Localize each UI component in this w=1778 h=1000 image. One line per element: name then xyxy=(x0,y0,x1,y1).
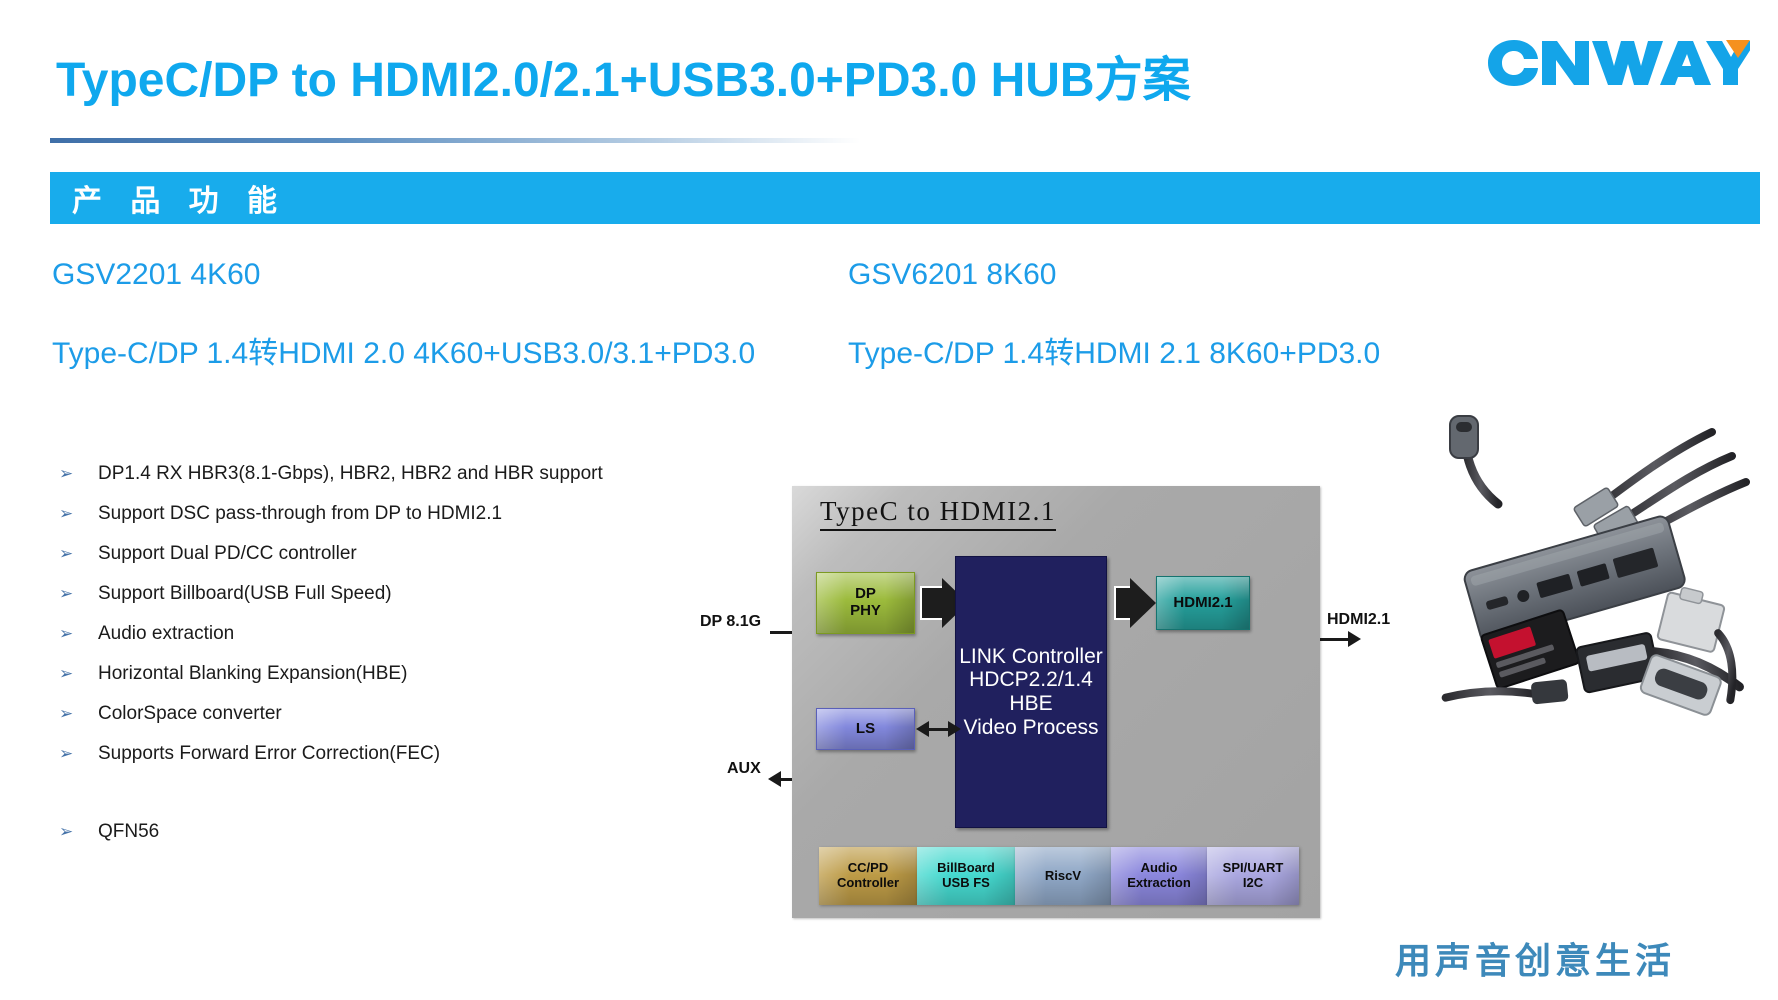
list-item: ➢ Audio extraction xyxy=(52,622,732,662)
list-gap xyxy=(52,782,732,820)
bullet-arrow-icon: ➢ xyxy=(52,702,98,726)
bullet-arrow-icon: ➢ xyxy=(52,582,98,606)
diagram-block-link-controller-label: LINK Controller HDCP2.2/1.4 HBE Video Pr… xyxy=(959,645,1103,739)
arrow-dpphy-to-link xyxy=(920,586,944,620)
block-diagram: TypeC to HDMI2.1 DP PHY LINK Controller … xyxy=(792,486,1320,918)
diagram-block-hdmi-label: HDMI2.1 xyxy=(1173,595,1232,612)
bullet-arrow-icon: ➢ xyxy=(52,622,98,646)
list-item-package: ➢ QFN56 xyxy=(52,820,732,860)
list-item: ➢ ColorSpace converter xyxy=(52,702,732,742)
product-right-name: GSV6201 8K60 xyxy=(848,258,1057,292)
list-item: ➢ Support Billboard(USB Full Speed) xyxy=(52,582,732,622)
arrow-head-ls-left xyxy=(916,721,929,737)
bullet-arrow-icon: ➢ xyxy=(52,542,98,566)
watermark-text: 用声音创意生活 xyxy=(1395,932,1675,984)
list-item: ➢ Support Dual PD/CC controller xyxy=(52,542,732,582)
diagram-block-hdmi: HDMI2.1 xyxy=(1156,576,1250,630)
bullet-arrow-icon: ➢ xyxy=(52,462,98,486)
bullet-arrow-icon: ➢ xyxy=(52,742,98,766)
list-item: ➢ Horizontal Blanking Expansion(HBE) xyxy=(52,662,732,702)
diagram-label-aux: AUX xyxy=(727,760,761,778)
diagram-block-ls-label: LS xyxy=(856,721,875,738)
arrow-link-to-hdmi xyxy=(1114,586,1132,620)
diagram-block-riscv: RiscV xyxy=(1015,847,1111,905)
list-item-label: DP1.4 RX HBR3(8.1-Gbps), HBR2, HBR2 and … xyxy=(98,462,603,486)
arrow-head-ls-right xyxy=(948,721,961,737)
list-item: ➢ DP1.4 RX HBR3(8.1-Gbps), HBR2, HBR2 an… xyxy=(52,462,732,502)
diagram-block-dp-phy: DP PHY xyxy=(816,572,915,634)
list-item-label: Support Billboard(USB Full Speed) xyxy=(98,582,392,606)
product-photo xyxy=(1420,412,1750,722)
list-item-label: Supports Forward Error Correction(FEC) xyxy=(98,742,440,766)
diagram-bottom-block-row: CC/PD Controller BillBoard USB FS RiscV … xyxy=(819,847,1299,905)
diagram-label-dp-input: DP 8.1G xyxy=(700,613,761,631)
list-item: ➢ Supports Forward Error Correction(FEC) xyxy=(52,742,732,782)
list-item-label: Support DSC pass-through from DP to HDMI… xyxy=(98,502,502,526)
arrow-head-hdmi-output xyxy=(1348,631,1361,647)
list-item-label: Audio extraction xyxy=(98,622,234,646)
arrow-head-aux-left xyxy=(768,771,781,787)
diagram-block-billboard: BillBoard USB FS xyxy=(917,847,1015,905)
diagram-block-link-controller: LINK Controller HDCP2.2/1.4 HBE Video Pr… xyxy=(955,556,1107,828)
diagram-block-spi-uart-i2c: SPI/UART I2C xyxy=(1207,847,1299,905)
onway-logo xyxy=(1480,32,1750,94)
bullet-arrow-icon: ➢ xyxy=(52,502,98,526)
diagram-block-dp-phy-label: DP PHY xyxy=(850,586,881,620)
product-left-spec: Type-C/DP 1.4转HDMI 2.0 4K60+USB3.0/3.1+P… xyxy=(52,328,755,372)
list-item-label: Support Dual PD/CC controller xyxy=(98,542,357,566)
page-title: TypeC/DP to HDMI2.0/2.1+USB3.0+PD3.0 HUB… xyxy=(56,40,1191,110)
title-divider xyxy=(50,138,860,143)
diagram-block-cc-pd-controller: CC/PD Controller xyxy=(819,847,917,905)
list-item-label: ColorSpace converter xyxy=(98,702,282,726)
product-left-name: GSV2201 4K60 xyxy=(52,258,261,292)
diagram-block-audio-extraction: Audio Extraction xyxy=(1111,847,1207,905)
diagram-block-ls: LS xyxy=(816,708,915,750)
bullet-arrow-icon: ➢ xyxy=(52,820,98,844)
diagram-title: TypeC to HDMI2.1 xyxy=(820,496,1056,531)
package-label: QFN56 xyxy=(98,820,159,844)
feature-list: ➢ DP1.4 RX HBR3(8.1-Gbps), HBR2, HBR2 an… xyxy=(52,462,732,860)
diagram-label-hdmi-output: HDMI2.1 xyxy=(1327,611,1390,629)
section-banner-label: 产 品 功 能 xyxy=(50,176,287,220)
list-item-label: Horizontal Blanking Expansion(HBE) xyxy=(98,662,407,686)
list-item: ➢ Support DSC pass-through from DP to HD… xyxy=(52,502,732,542)
section-banner: 产 品 功 能 xyxy=(50,172,1760,224)
product-right-spec: Type-C/DP 1.4转HDMI 2.1 8K60+PD3.0 xyxy=(848,328,1380,372)
bullet-arrow-icon: ➢ xyxy=(52,662,98,686)
